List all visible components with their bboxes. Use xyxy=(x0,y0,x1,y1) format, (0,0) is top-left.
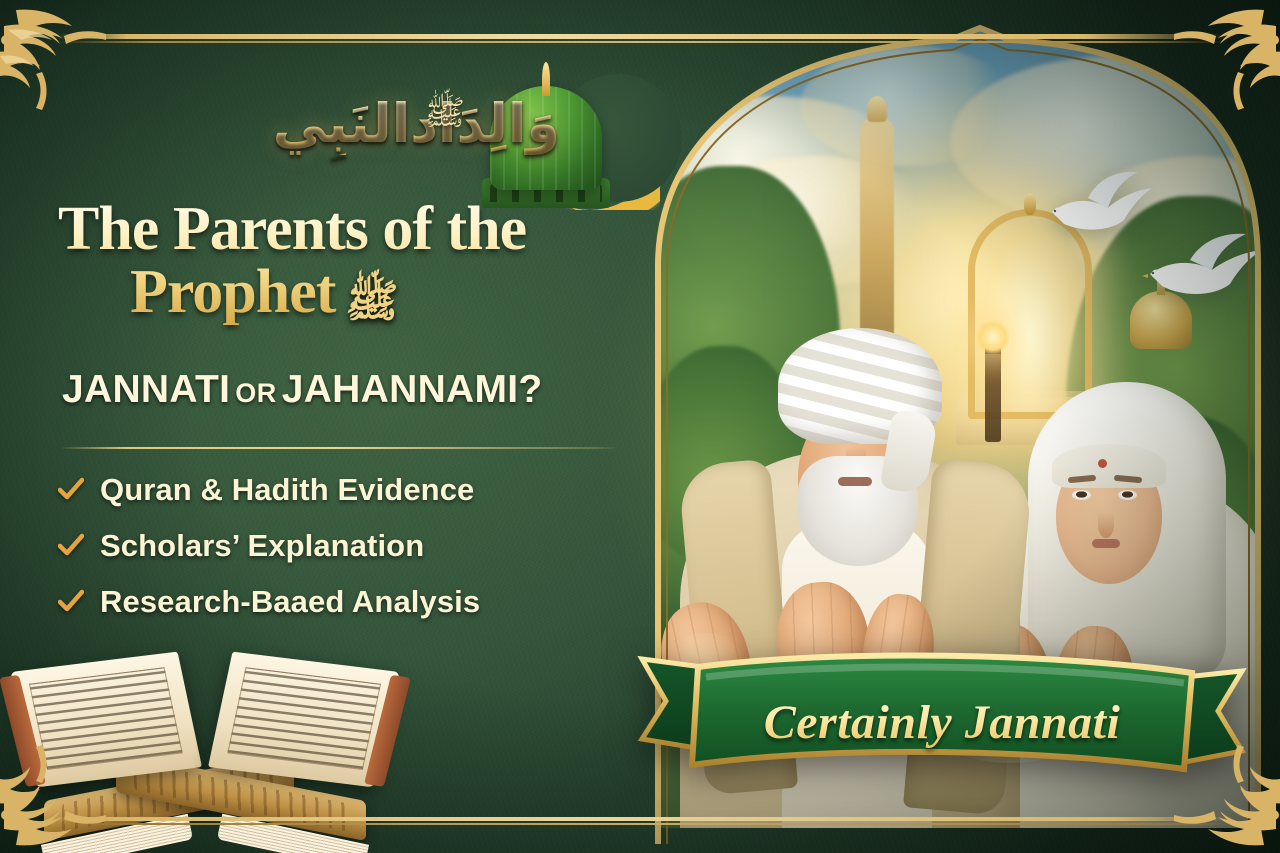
saw-symbol-icon: ﷺ xyxy=(345,280,398,325)
list-item: Research-Baaed Analysis xyxy=(58,574,618,630)
headline-line-1: The Parents of the xyxy=(58,195,526,263)
list-item: Quran & Hadith Evidence xyxy=(58,462,618,518)
feature-list: Quran & Hadith Evidence Scholars’ Explan… xyxy=(58,462,618,630)
ribbon-shape xyxy=(636,643,1248,793)
saw-symbol-arabic: ﷺ xyxy=(424,92,465,141)
list-item-label: Quran & Hadith Evidence xyxy=(100,472,474,508)
open-quran-on-rehal-icon xyxy=(30,643,380,843)
subtitle-or: OR xyxy=(235,378,277,408)
page-title: The Parents of the Prophetﷺ xyxy=(58,198,648,325)
gold-divider xyxy=(60,447,618,449)
list-item-label: Scholars’ Explanation xyxy=(100,528,424,564)
quran-left-page xyxy=(10,652,202,788)
arabic-title: وَالِدَادالنَبِي xyxy=(0,92,560,155)
subtitle-jannati: JANNATI xyxy=(62,368,230,411)
subtitle-jahannami: JAHANNAMI? xyxy=(282,368,543,411)
quran-right-page xyxy=(208,652,400,788)
check-icon xyxy=(58,477,84,503)
certainly-jannati-banner: Certainly Jannati xyxy=(636,643,1248,793)
check-icon xyxy=(58,533,84,559)
dome-spire xyxy=(542,62,550,96)
list-item: Scholars’ Explanation xyxy=(58,518,618,574)
list-item-label: Research-Baaed Analysis xyxy=(100,584,480,620)
check-icon xyxy=(58,589,84,615)
subtitle: JANNATIORJAHANNAMI? xyxy=(62,368,642,412)
headline-line-2-wrap: Prophetﷺ xyxy=(130,261,648,325)
headline-line-2: Prophet xyxy=(130,258,335,326)
poster-root: وَالِدَادالنَبِي ﷺ The Parents of the Pr… xyxy=(0,0,1280,853)
